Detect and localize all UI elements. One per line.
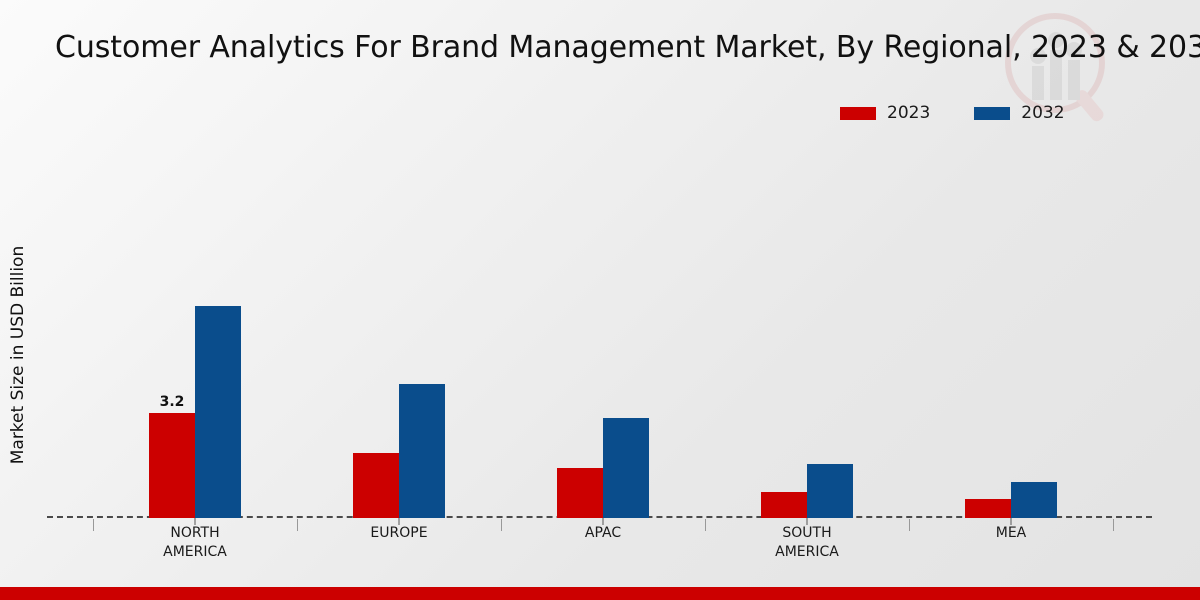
legend-item-2023[interactable]: 2023 <box>840 103 930 123</box>
chart-title: Customer Analytics For Brand Management … <box>55 30 1200 65</box>
group-separator <box>1113 519 1114 531</box>
footer-accent-bar <box>0 587 1200 600</box>
x-label-line: APAC <box>501 524 705 543</box>
x-label-line: EUROPE <box>297 524 501 543</box>
bar-2032-europe[interactable] <box>399 384 445 518</box>
x-label-south-america: SOUTH AMERICA <box>705 524 909 562</box>
bar-2032-north-america[interactable] <box>195 306 241 518</box>
x-label-apac: APAC <box>501 524 705 562</box>
bar-value-2023-north-america: 3.2 <box>160 394 185 410</box>
bars-apac <box>557 140 649 518</box>
bar-group-europe <box>297 140 501 518</box>
bar-group-south-america <box>705 140 909 518</box>
x-label-europe: EUROPE <box>297 524 501 562</box>
x-label-line: AMERICA <box>93 543 297 562</box>
chart-canvas: Customer Analytics For Brand Management … <box>0 0 1200 600</box>
legend-swatch-2023 <box>840 107 876 120</box>
legend-label-2023: 2023 <box>887 103 930 123</box>
legend-label-2032: 2032 <box>1021 103 1064 123</box>
x-label-north-america: NORTH AMERICA <box>93 524 297 562</box>
x-label-line: NORTH <box>93 524 297 543</box>
bar-group-north-america: 3.2 <box>93 140 297 518</box>
bar-2023-mea[interactable] <box>965 499 1011 518</box>
x-label-line: SOUTH <box>705 524 909 543</box>
plot-area: 3.2 <box>47 140 1152 518</box>
x-label-line: AMERICA <box>705 543 909 562</box>
x-label-line: MEA <box>909 524 1113 543</box>
x-axis-category-labels: NORTH AMERICA EUROPE APAC SOUTH AMERICA … <box>93 524 1113 562</box>
bar-group-apac <box>501 140 705 518</box>
bar-2023-north-america[interactable]: 3.2 <box>149 413 195 518</box>
legend-item-2032[interactable]: 2032 <box>974 103 1064 123</box>
bar-2032-apac[interactable] <box>603 418 649 518</box>
bar-group-mea <box>909 140 1113 518</box>
bar-2032-south-america[interactable] <box>807 464 853 518</box>
bars-north-america: 3.2 <box>149 140 241 518</box>
bar-groups: 3.2 <box>93 140 1113 518</box>
bar-2023-europe[interactable] <box>353 453 399 518</box>
bars-europe <box>353 140 445 518</box>
x-label-mea: MEA <box>909 524 1113 562</box>
bar-2032-mea[interactable] <box>1011 482 1057 518</box>
bar-2023-south-america[interactable] <box>761 492 807 518</box>
y-axis-title: Market Size in USD Billion <box>8 185 28 525</box>
legend-swatch-2032 <box>974 107 1010 120</box>
bars-south-america <box>761 140 853 518</box>
bars-mea <box>965 140 1057 518</box>
chart-legend: 2023 2032 <box>840 103 1065 123</box>
bar-2023-apac[interactable] <box>557 468 603 518</box>
